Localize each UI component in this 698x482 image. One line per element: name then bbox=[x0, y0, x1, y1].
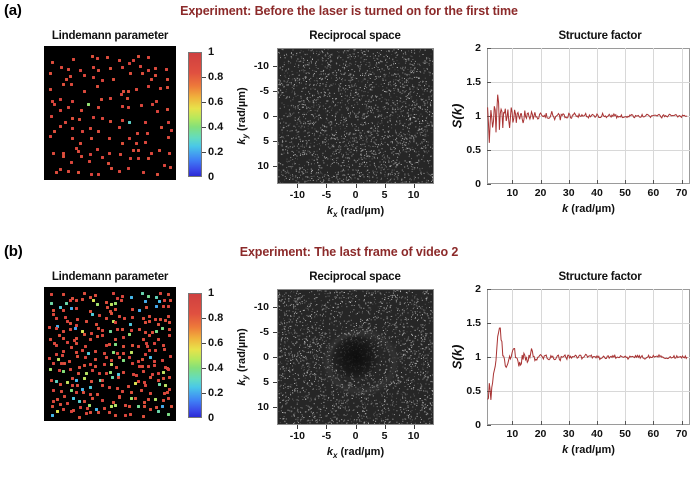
lindemann-particle bbox=[87, 352, 90, 355]
colorbar-tick-label: 0.6 bbox=[208, 337, 223, 349]
reciprocal-title-a: Reciprocal space bbox=[275, 30, 435, 42]
lindemann-particle bbox=[170, 129, 173, 132]
lindemann-particle bbox=[89, 386, 92, 389]
lindemann-particle bbox=[101, 329, 104, 332]
lindemann-particle bbox=[144, 321, 147, 324]
panel-a: (a) Experiment: Before the laser is turn… bbox=[0, 0, 698, 241]
panel-b: (b) Experiment: The last frame of video … bbox=[0, 241, 698, 482]
lindemann-particle bbox=[80, 109, 83, 112]
structure-ytick-label: 0 bbox=[475, 178, 481, 190]
lindemann-particle bbox=[167, 136, 170, 139]
lindemann-particle bbox=[166, 78, 169, 81]
reciprocal-xtick-label: -5 bbox=[322, 430, 331, 442]
lindemann-particle bbox=[101, 334, 104, 337]
lindemann-particle bbox=[156, 110, 159, 113]
lindemann-particle bbox=[114, 338, 117, 341]
reciprocal-xtick-label: -10 bbox=[290, 430, 305, 442]
reciprocal-ytick-label: -10 bbox=[254, 60, 269, 72]
lindemann-particle bbox=[122, 345, 125, 348]
lindemann-map-a bbox=[44, 46, 176, 180]
lindemann-particle bbox=[75, 351, 78, 354]
lindemann-particle bbox=[76, 355, 79, 358]
lindemann-particle bbox=[70, 346, 73, 349]
lindemann-particle bbox=[108, 152, 111, 155]
colorbar-tick bbox=[202, 77, 206, 78]
structure-factor-curve-svg bbox=[487, 289, 690, 425]
lindemann-particle bbox=[144, 384, 147, 387]
lindemann-particle bbox=[69, 368, 72, 371]
lindemann-particle bbox=[53, 130, 56, 133]
lindemann-particle bbox=[114, 343, 117, 346]
lindemann-particle bbox=[139, 65, 142, 68]
lindemann-particle bbox=[146, 132, 149, 135]
lindemann-particle bbox=[96, 335, 99, 338]
lindemann-particle bbox=[92, 76, 95, 79]
reciprocal-xtick-label: -10 bbox=[290, 189, 305, 201]
lindemann-particle bbox=[118, 396, 121, 399]
lindemann-particle bbox=[149, 376, 152, 379]
lindemann-particle bbox=[81, 298, 84, 301]
lindemann-particle bbox=[65, 302, 68, 305]
structure-title-b: Structure factor bbox=[520, 271, 680, 283]
lindemann-particle bbox=[163, 392, 166, 395]
lindemann-particle bbox=[116, 297, 119, 300]
colorbar-tick bbox=[202, 102, 206, 103]
reciprocal-xtick-label: 5 bbox=[382, 430, 388, 442]
lindemann-particle bbox=[109, 330, 112, 333]
reciprocal-xtick bbox=[414, 184, 415, 188]
reciprocal-ytick bbox=[273, 357, 277, 358]
lindemann-particle bbox=[160, 126, 163, 129]
lindemann-particle bbox=[84, 356, 87, 359]
lindemann-particle bbox=[166, 391, 169, 394]
lindemann-particle bbox=[55, 171, 58, 174]
lindemann-particle bbox=[91, 397, 94, 400]
lindemann-particle bbox=[78, 366, 81, 369]
lindemann-particle bbox=[108, 137, 111, 140]
structure-ytick-label: 2 bbox=[475, 283, 481, 295]
structure-xtick-label: 40 bbox=[591, 187, 603, 199]
lindemann-particle bbox=[110, 359, 113, 362]
lindemann-particle bbox=[147, 157, 150, 160]
lindemann-particle bbox=[128, 62, 131, 65]
lindemann-particle bbox=[66, 402, 69, 405]
lindemann-particle bbox=[112, 78, 115, 81]
lindemann-particle bbox=[76, 384, 79, 387]
lindemann-particle bbox=[162, 371, 165, 374]
lindemann-particle bbox=[91, 369, 94, 372]
reciprocal-xtick bbox=[385, 184, 386, 188]
lindemann-particle bbox=[137, 405, 140, 408]
lindemann-particle bbox=[129, 323, 132, 326]
structure-ytick-label: 0.5 bbox=[466, 385, 481, 397]
lindemann-particle bbox=[109, 97, 112, 100]
lindemann-particle bbox=[147, 398, 150, 401]
lindemann-particle bbox=[55, 327, 58, 330]
lindemann-particle bbox=[132, 149, 135, 152]
lindemann-particle bbox=[52, 313, 55, 316]
colorbar-tick-label: 0 bbox=[208, 171, 214, 183]
lindemann-particle bbox=[131, 308, 134, 311]
lindemann-particle bbox=[151, 331, 154, 334]
reciprocal-ytick bbox=[273, 332, 277, 333]
lindemann-particle bbox=[121, 142, 124, 145]
lindemann-particle bbox=[168, 376, 171, 379]
reciprocal-xtick-label: 0 bbox=[353, 189, 359, 201]
reciprocal-ytick bbox=[273, 166, 277, 167]
lindemann-title-a: Lindemann parameter bbox=[20, 30, 200, 42]
lindemann-particle bbox=[52, 389, 55, 392]
lindemann-particle bbox=[49, 368, 52, 371]
lindemann-particle bbox=[92, 66, 95, 69]
structure-ytick-label: 0.5 bbox=[466, 144, 481, 156]
lindemann-particle bbox=[96, 85, 99, 88]
lindemann-particle bbox=[90, 137, 93, 140]
lindemann-particle bbox=[149, 408, 152, 411]
lindemann-particle bbox=[90, 380, 93, 383]
lindemann-particle bbox=[114, 414, 117, 417]
reciprocal-xtick bbox=[356, 184, 357, 188]
lindemann-particle bbox=[142, 415, 145, 418]
lindemann-particle bbox=[50, 379, 53, 382]
reciprocal-xtick bbox=[356, 425, 357, 429]
reciprocal-xtick-label: 10 bbox=[408, 430, 420, 442]
colorbar-tick bbox=[202, 343, 206, 344]
lindemann-particle bbox=[149, 356, 152, 359]
lindemann-particle bbox=[106, 306, 109, 309]
lindemann-particle bbox=[149, 392, 152, 395]
lindemann-particle bbox=[64, 121, 67, 124]
lindemann-particle bbox=[52, 362, 55, 365]
lindemann-particle bbox=[151, 373, 154, 376]
lindemann-particle bbox=[64, 316, 67, 319]
lindemann-particle bbox=[147, 295, 150, 298]
reciprocal-xtick-label: 0 bbox=[353, 430, 359, 442]
lindemann-particle bbox=[61, 354, 64, 357]
lindemann-particle bbox=[169, 299, 172, 302]
lindemann-particle bbox=[81, 330, 84, 333]
lindemann-particle bbox=[97, 173, 100, 176]
lindemann-particle bbox=[97, 106, 100, 109]
lindemann-particle bbox=[114, 321, 117, 324]
structure-ytick-label: 2 bbox=[475, 42, 481, 54]
lindemann-particle bbox=[49, 88, 52, 91]
lindemann-particle bbox=[75, 299, 78, 302]
lindemann-particle bbox=[70, 389, 73, 392]
lindemann-particle bbox=[142, 171, 145, 174]
structure-ytick-label: 1.5 bbox=[466, 317, 481, 329]
lindemann-particle bbox=[89, 153, 92, 156]
lindemann-particle bbox=[58, 334, 61, 337]
lindemann-particle bbox=[138, 328, 141, 331]
lindemann-map-b bbox=[44, 287, 176, 421]
lindemann-particle bbox=[94, 294, 97, 297]
reciprocal-yaxis-label: ky (rad/µm) bbox=[236, 87, 250, 144]
lindemann-particle bbox=[157, 372, 160, 375]
lindemann-title-b: Lindemann parameter bbox=[20, 271, 200, 283]
colorbar-tick bbox=[202, 127, 206, 128]
lindemann-particle bbox=[129, 72, 132, 75]
panel-a-title: Experiment: Before the laser is turned o… bbox=[0, 4, 698, 18]
lindemann-particle bbox=[97, 327, 100, 330]
colorbar-tick-label: 1 bbox=[208, 46, 214, 58]
lindemann-particle bbox=[118, 315, 121, 318]
lindemann-particle bbox=[94, 350, 97, 353]
lindemann-particle bbox=[69, 299, 72, 302]
lindemann-particle bbox=[153, 342, 156, 345]
reciprocal-xtick bbox=[297, 184, 298, 188]
structure-factor-chart-b: 1020304050607000.511.52k (rad/µm)S(k) bbox=[487, 289, 690, 425]
lindemann-particle bbox=[118, 356, 121, 359]
colorbar-tick-label: 0.2 bbox=[208, 387, 223, 399]
lindemann-particle bbox=[112, 292, 115, 295]
lindemann-particle bbox=[50, 302, 53, 305]
lindemann-particle bbox=[108, 343, 111, 346]
lindemann-particle bbox=[74, 327, 77, 330]
lindemann-particle bbox=[116, 387, 119, 390]
lindemann-particle bbox=[57, 358, 60, 361]
lindemann-particle bbox=[69, 328, 72, 331]
reciprocal-noise-a bbox=[278, 49, 433, 183]
colorbar-gradient-b bbox=[188, 293, 202, 418]
lindemann-particle bbox=[63, 362, 66, 365]
lindemann-particle bbox=[165, 68, 168, 71]
lindemann-particle bbox=[154, 74, 157, 77]
lindemann-particle bbox=[81, 130, 84, 133]
colorbar-tick-label: 0.6 bbox=[208, 96, 223, 108]
lindemann-particle bbox=[90, 332, 93, 335]
structure-ytick-label: 1 bbox=[475, 110, 481, 122]
reciprocal-map-b: -10-50510-10-50510kx (rad/µm)ky (rad/µm) bbox=[277, 289, 434, 425]
reciprocal-xtick-label: -5 bbox=[322, 189, 331, 201]
lindemann-particle bbox=[88, 404, 91, 407]
lindemann-particle bbox=[51, 405, 54, 408]
lindemann-particle bbox=[126, 97, 129, 100]
lindemann-particle bbox=[168, 152, 171, 155]
lindemann-particle bbox=[134, 382, 137, 385]
lindemann-particle bbox=[170, 405, 173, 408]
lindemann-particle bbox=[101, 379, 104, 382]
lindemann-particle bbox=[55, 353, 58, 356]
lindemann-particle bbox=[146, 345, 149, 348]
lindemann-particle bbox=[122, 336, 125, 339]
lindemann-particle bbox=[167, 397, 170, 400]
lindemann-particle bbox=[109, 67, 112, 70]
lindemann-particle bbox=[92, 116, 95, 119]
structure-ytick bbox=[487, 184, 491, 185]
reciprocal-map-a: -10-50510-10-50510kx (rad/µm)ky (rad/µm) bbox=[277, 48, 434, 184]
lindemann-particle bbox=[107, 162, 110, 165]
lindemann-particle bbox=[59, 98, 62, 101]
colorbar-tick-label: 0.8 bbox=[208, 71, 223, 83]
lindemann-particle bbox=[105, 372, 108, 375]
lindemann-particle bbox=[62, 408, 65, 411]
lindemann-particle bbox=[56, 410, 59, 413]
colorbar-tick-label: 0.4 bbox=[208, 362, 223, 374]
lindemann-particle bbox=[85, 320, 88, 323]
lindemann-particle bbox=[167, 315, 170, 318]
lindemann-particle bbox=[127, 106, 130, 109]
lindemann-particle bbox=[142, 338, 145, 341]
lindemann-particle bbox=[167, 293, 170, 296]
lindemann-particle bbox=[84, 345, 87, 348]
lindemann-particle bbox=[108, 386, 111, 389]
structure-xaxis-label: k (rad/µm) bbox=[562, 444, 615, 456]
lindemann-particle bbox=[112, 351, 115, 354]
structure-ytick bbox=[487, 425, 491, 426]
reciprocal-xaxis-label: kx (rad/µm) bbox=[327, 205, 384, 219]
reciprocal-xtick bbox=[326, 184, 327, 188]
lindemann-particle bbox=[147, 365, 150, 368]
lindemann-particle bbox=[130, 391, 133, 394]
lindemann-particle bbox=[110, 167, 113, 170]
lindemann-particle bbox=[62, 337, 65, 340]
lindemann-particle bbox=[122, 371, 125, 374]
lindemann-particle bbox=[130, 351, 133, 354]
colorbar-tick bbox=[202, 368, 206, 369]
lindemann-particle bbox=[130, 329, 133, 332]
lindemann-particle bbox=[110, 312, 113, 315]
lindemann-particle bbox=[137, 157, 140, 160]
lindemann-particle bbox=[154, 67, 157, 70]
structure-xtick-label: 10 bbox=[507, 187, 519, 199]
lindemann-particle bbox=[116, 352, 119, 355]
lindemann-particle bbox=[162, 344, 165, 347]
lindemann-particle bbox=[164, 319, 167, 322]
lindemann-particle bbox=[49, 72, 52, 75]
lindemann-particle bbox=[162, 377, 165, 380]
reciprocal-ytick bbox=[273, 141, 277, 142]
reciprocal-speckle bbox=[278, 290, 279, 291]
lindemann-particle bbox=[111, 376, 114, 379]
reciprocal-ytick bbox=[273, 66, 277, 67]
lindemann-particle bbox=[62, 370, 65, 373]
lindemann-particle bbox=[144, 353, 147, 356]
lindemann-particle bbox=[51, 414, 54, 417]
lindemann-particle bbox=[79, 69, 82, 72]
lindemann-particle bbox=[59, 125, 62, 128]
reciprocal-ytick bbox=[273, 116, 277, 117]
structure-xtick-label: 40 bbox=[591, 428, 603, 440]
lindemann-particle bbox=[153, 360, 156, 363]
lindemann-particle bbox=[70, 410, 73, 413]
lindemann-particle bbox=[168, 328, 171, 331]
lindemann-particle bbox=[83, 90, 86, 93]
lindemann-particle bbox=[155, 305, 158, 308]
lindemann-particle bbox=[154, 318, 157, 321]
lindemann-particle bbox=[63, 395, 66, 398]
lindemann-particle bbox=[96, 393, 99, 396]
lindemann-particle bbox=[144, 300, 147, 303]
lindemann-particle bbox=[116, 328, 119, 331]
lindemann-particle bbox=[158, 383, 161, 386]
lindemann-particle bbox=[137, 55, 140, 58]
lindemann-particle bbox=[101, 79, 104, 82]
lindemann-particle bbox=[83, 364, 86, 367]
lindemann-particle bbox=[105, 301, 108, 304]
colorbar-gradient-a bbox=[188, 52, 202, 177]
reciprocal-image-a bbox=[277, 48, 434, 184]
lindemann-particle bbox=[59, 403, 62, 406]
structure-title-a: Structure factor bbox=[520, 30, 680, 42]
lindemann-particle bbox=[101, 117, 104, 120]
lindemann-particle bbox=[114, 404, 117, 407]
lindemann-particle bbox=[121, 390, 124, 393]
reciprocal-xtick-label: 5 bbox=[382, 189, 388, 201]
lindemann-particle bbox=[105, 317, 108, 320]
lindemann-particle bbox=[129, 157, 132, 160]
lindemann-particle bbox=[129, 413, 132, 416]
reciprocal-xtick bbox=[414, 425, 415, 429]
lindemann-particle bbox=[155, 100, 158, 103]
lindemann-particle bbox=[117, 376, 120, 379]
lindemann-particle bbox=[135, 142, 138, 145]
lindemann-particle bbox=[48, 357, 51, 360]
lindemann-particle bbox=[78, 118, 81, 121]
lindemann-particle bbox=[109, 371, 112, 374]
lindemann-particle bbox=[67, 170, 70, 173]
lindemann-particle bbox=[90, 173, 93, 176]
lindemann-particle bbox=[72, 58, 75, 61]
lindemann-particle bbox=[89, 338, 92, 341]
colorbar-tick-label: 0 bbox=[208, 412, 214, 424]
reciprocal-ytick bbox=[273, 382, 277, 383]
lindemann-particle bbox=[72, 397, 75, 400]
reciprocal-ytick-label: -5 bbox=[260, 326, 269, 338]
lindemann-particle bbox=[67, 68, 70, 71]
lindemann-particle bbox=[77, 171, 80, 174]
lindemann-particle bbox=[89, 363, 92, 366]
lindemann-particle bbox=[51, 61, 54, 64]
lindemann-particle bbox=[157, 323, 160, 326]
lindemann-particle bbox=[49, 135, 52, 138]
lindemann-particle bbox=[148, 349, 151, 352]
reciprocal-ytick bbox=[273, 307, 277, 308]
reciprocal-ytick-label: -10 bbox=[254, 301, 269, 313]
lindemann-particle bbox=[85, 412, 88, 415]
lindemann-particle bbox=[101, 384, 104, 387]
lindemann-particle bbox=[168, 321, 171, 324]
lindemann-particle bbox=[87, 103, 90, 106]
lindemann-particle bbox=[65, 78, 68, 81]
lindemann-particle bbox=[59, 109, 62, 112]
lindemann-particle bbox=[110, 405, 113, 408]
lindemann-particle bbox=[161, 359, 164, 362]
lindemann-particle bbox=[60, 390, 63, 393]
lindemann-particle bbox=[75, 337, 78, 340]
colorbar-tick bbox=[202, 152, 206, 153]
structure-xtick-label: 50 bbox=[619, 187, 631, 199]
lindemann-particle bbox=[142, 317, 145, 320]
lindemann-particle bbox=[134, 397, 137, 400]
reciprocal-xtick bbox=[297, 425, 298, 429]
lindemann-particle bbox=[50, 115, 53, 118]
lindemann-particle bbox=[70, 307, 73, 310]
reciprocal-ytick-label: 10 bbox=[257, 160, 269, 172]
lindemann-particle bbox=[135, 374, 138, 377]
lindemann-particle bbox=[52, 309, 55, 312]
colorbar-b: 10.80.60.40.20 bbox=[188, 293, 202, 418]
lindemann-particle bbox=[166, 108, 169, 111]
lindemann-particle bbox=[98, 314, 101, 317]
lindemann-particle bbox=[140, 389, 143, 392]
lindemann-particle bbox=[77, 150, 80, 153]
lindemann-particle bbox=[115, 366, 118, 369]
lindemann-particle bbox=[167, 121, 170, 124]
lindemann-particle bbox=[137, 149, 140, 152]
lindemann-particle bbox=[128, 121, 131, 124]
lindemann-particle bbox=[55, 317, 58, 320]
